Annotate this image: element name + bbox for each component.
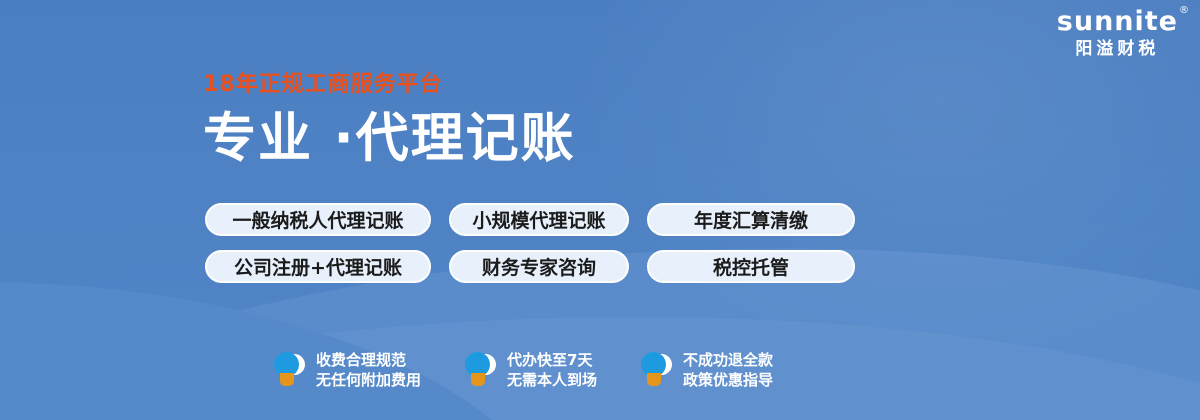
feature-item-guarantee: 不成功退全款 政策优惠指导 <box>641 350 773 391</box>
service-pill-company-registration[interactable]: 公司注册+代理记账 <box>205 250 431 283</box>
registered-trademark-icon: ® <box>1179 6 1190 16</box>
headline-block: 18年正规工商服务平台 专业 ·代理记账 <box>203 74 576 165</box>
promo-banner: sunnite® 阳溢财税 18年正规工商服务平台 专业 ·代理记账 一般纳税人… <box>0 0 1200 420</box>
brand-wordmark: sunnite® <box>1057 8 1178 35</box>
feature-line-2: 无任何附加费用 <box>316 370 421 390</box>
feature-list: 收费合理规范 无任何附加费用 代办快至7天 无需本人到场 不成功退全款 政策优惠… <box>274 350 817 391</box>
brand-name-cn: 阳溢财税 <box>1057 41 1178 58</box>
feature-line-2: 政策优惠指导 <box>683 370 773 390</box>
feature-line-2: 无需本人到场 <box>507 370 597 390</box>
feature-text-guarantee: 不成功退全款 政策优惠指导 <box>683 350 773 391</box>
service-pill-group: 一般纳税人代理记账 小规模代理记账 年度汇算清缴 公司注册+代理记账 财务专家咨… <box>205 203 855 297</box>
lightbulb-icon <box>274 351 306 389</box>
lightbulb-icon <box>641 351 673 389</box>
service-pill-general-taxpayer[interactable]: 一般纳税人代理记账 <box>205 203 431 236</box>
service-pill-row-1: 一般纳税人代理记账 小规模代理记账 年度汇算清缴 <box>205 203 855 236</box>
service-pill-tax-control-hosting[interactable]: 税控托管 <box>647 250 855 283</box>
headline-eyebrow: 18年正规工商服务平台 <box>203 74 576 96</box>
feature-text-speed: 代办快至7天 无需本人到场 <box>507 350 597 391</box>
service-pill-row-2: 公司注册+代理记账 财务专家咨询 税控托管 <box>205 250 855 283</box>
service-pill-annual-settlement[interactable]: 年度汇算清缴 <box>647 203 855 236</box>
feature-line-1: 收费合理规范 <box>316 350 421 370</box>
feature-item-speed: 代办快至7天 无需本人到场 <box>465 350 597 391</box>
feature-text-pricing: 收费合理规范 无任何附加费用 <box>316 350 421 391</box>
feature-line-1: 代办快至7天 <box>507 350 597 370</box>
feature-item-pricing: 收费合理规范 无任何附加费用 <box>274 350 421 391</box>
service-pill-small-scale[interactable]: 小规模代理记账 <box>449 203 629 236</box>
brand-logo[interactable]: sunnite® 阳溢财税 <box>1057 8 1178 58</box>
lightbulb-icon <box>465 351 497 389</box>
page-title: 专业 ·代理记账 <box>203 112 576 165</box>
service-pill-expert-consulting[interactable]: 财务专家咨询 <box>449 250 629 283</box>
feature-line-1: 不成功退全款 <box>683 350 773 370</box>
